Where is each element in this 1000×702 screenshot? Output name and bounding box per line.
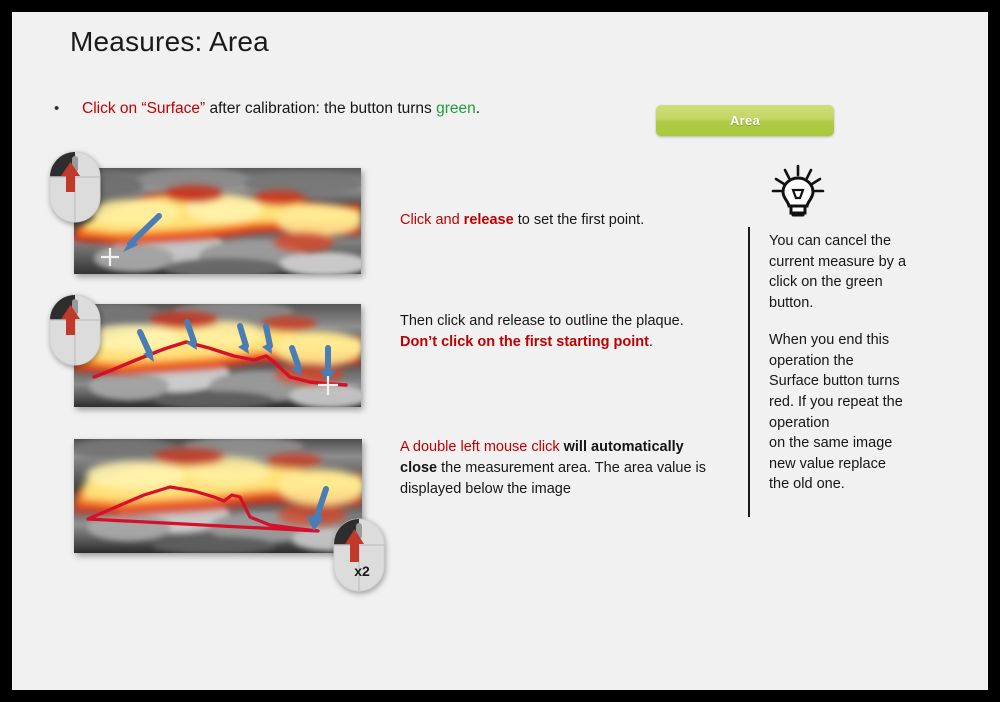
ultrasound-graphic-1 bbox=[74, 168, 361, 274]
step2-black-lead: Then click and release to outline the pl… bbox=[400, 313, 684, 329]
ultrasound-graphic-2 bbox=[74, 304, 361, 407]
tip-paragraph-2-line-6: on the same image bbox=[769, 433, 939, 454]
bullet-text-black-1: after calibration: the button turns bbox=[205, 100, 436, 117]
ultrasound-image-step2 bbox=[74, 304, 361, 407]
mouse-icon-step2 bbox=[46, 289, 104, 369]
tip-paragraph-1-line-1: You can cancel the bbox=[769, 231, 939, 252]
tip-paragraph-2-line-3: Surface button turns bbox=[769, 371, 939, 392]
area-button[interactable]: Area bbox=[656, 105, 834, 136]
mouse-graphic bbox=[46, 289, 104, 369]
ultrasound-image-step3 bbox=[74, 439, 362, 553]
tip-text-panel: You can cancel the current measure by a … bbox=[769, 231, 939, 495]
tip-paragraph-2-line-4: red. If you repeat the bbox=[769, 392, 939, 413]
tip-paragraph-1-line-3: click on the green bbox=[769, 272, 939, 293]
step2-caption: Then click and release to outline the pl… bbox=[400, 311, 708, 353]
area-button-label: Area bbox=[730, 113, 760, 128]
tip-paragraph-2-line-8: the old one. bbox=[769, 474, 939, 495]
step3-black-tail: the measurement area. The area value is … bbox=[400, 460, 706, 497]
step3-red-lead: A double left mouse click bbox=[400, 439, 564, 455]
step1-red-lead: Click and bbox=[400, 212, 464, 228]
bullet-text-red: Click on “Surface” bbox=[82, 100, 205, 117]
bullet-text: Click on “Surface” after calibration: th… bbox=[82, 100, 480, 118]
page-title: Measures: Area bbox=[70, 26, 269, 58]
mouse-graphic-double-click: x2 bbox=[328, 515, 390, 595]
tip-paragraph-1-line-4: button. bbox=[769, 293, 939, 314]
ultrasound-image-step1 bbox=[74, 168, 361, 274]
tip-paragraph-1-line-2: current measure by a bbox=[769, 252, 939, 273]
step3-caption: A double left mouse click will automatic… bbox=[400, 437, 712, 500]
double-click-label: x2 bbox=[354, 563, 370, 579]
bullet-text-black-2: . bbox=[476, 100, 480, 117]
step2-black-tail: . bbox=[649, 334, 653, 350]
lightbulb-graphic bbox=[769, 164, 827, 224]
ultrasound-graphic-3 bbox=[74, 439, 362, 553]
bullet-marker: • bbox=[54, 101, 68, 116]
tip-paragraph-2-line-1: When you end this bbox=[769, 330, 939, 351]
tip-paragraph-2-line-2: operation the bbox=[769, 351, 939, 372]
mouse-icon-step3: x2 bbox=[328, 515, 390, 595]
step1-caption: Click and release to set the first point… bbox=[400, 210, 710, 231]
lightbulb-icon bbox=[769, 164, 827, 224]
mouse-graphic bbox=[46, 146, 104, 226]
tip-paragraph-spacer bbox=[769, 313, 939, 330]
bullet-text-green: green bbox=[436, 100, 476, 117]
slide-canvas: Measures: Area • Click on “Surface” afte… bbox=[12, 12, 988, 690]
step2-red-bold: Don’t click on the first starting point bbox=[400, 334, 649, 350]
tip-divider-rule bbox=[748, 227, 750, 517]
mouse-icon-step1 bbox=[46, 146, 104, 226]
tip-paragraph-2-line-7: new value replace bbox=[769, 454, 939, 475]
tip-paragraph-2-line-5: operation bbox=[769, 413, 939, 434]
step1-red-bold: release bbox=[464, 212, 514, 228]
bullet-row: • Click on “Surface” after calibration: … bbox=[54, 100, 480, 118]
step1-black-tail: to set the first point. bbox=[514, 212, 645, 228]
